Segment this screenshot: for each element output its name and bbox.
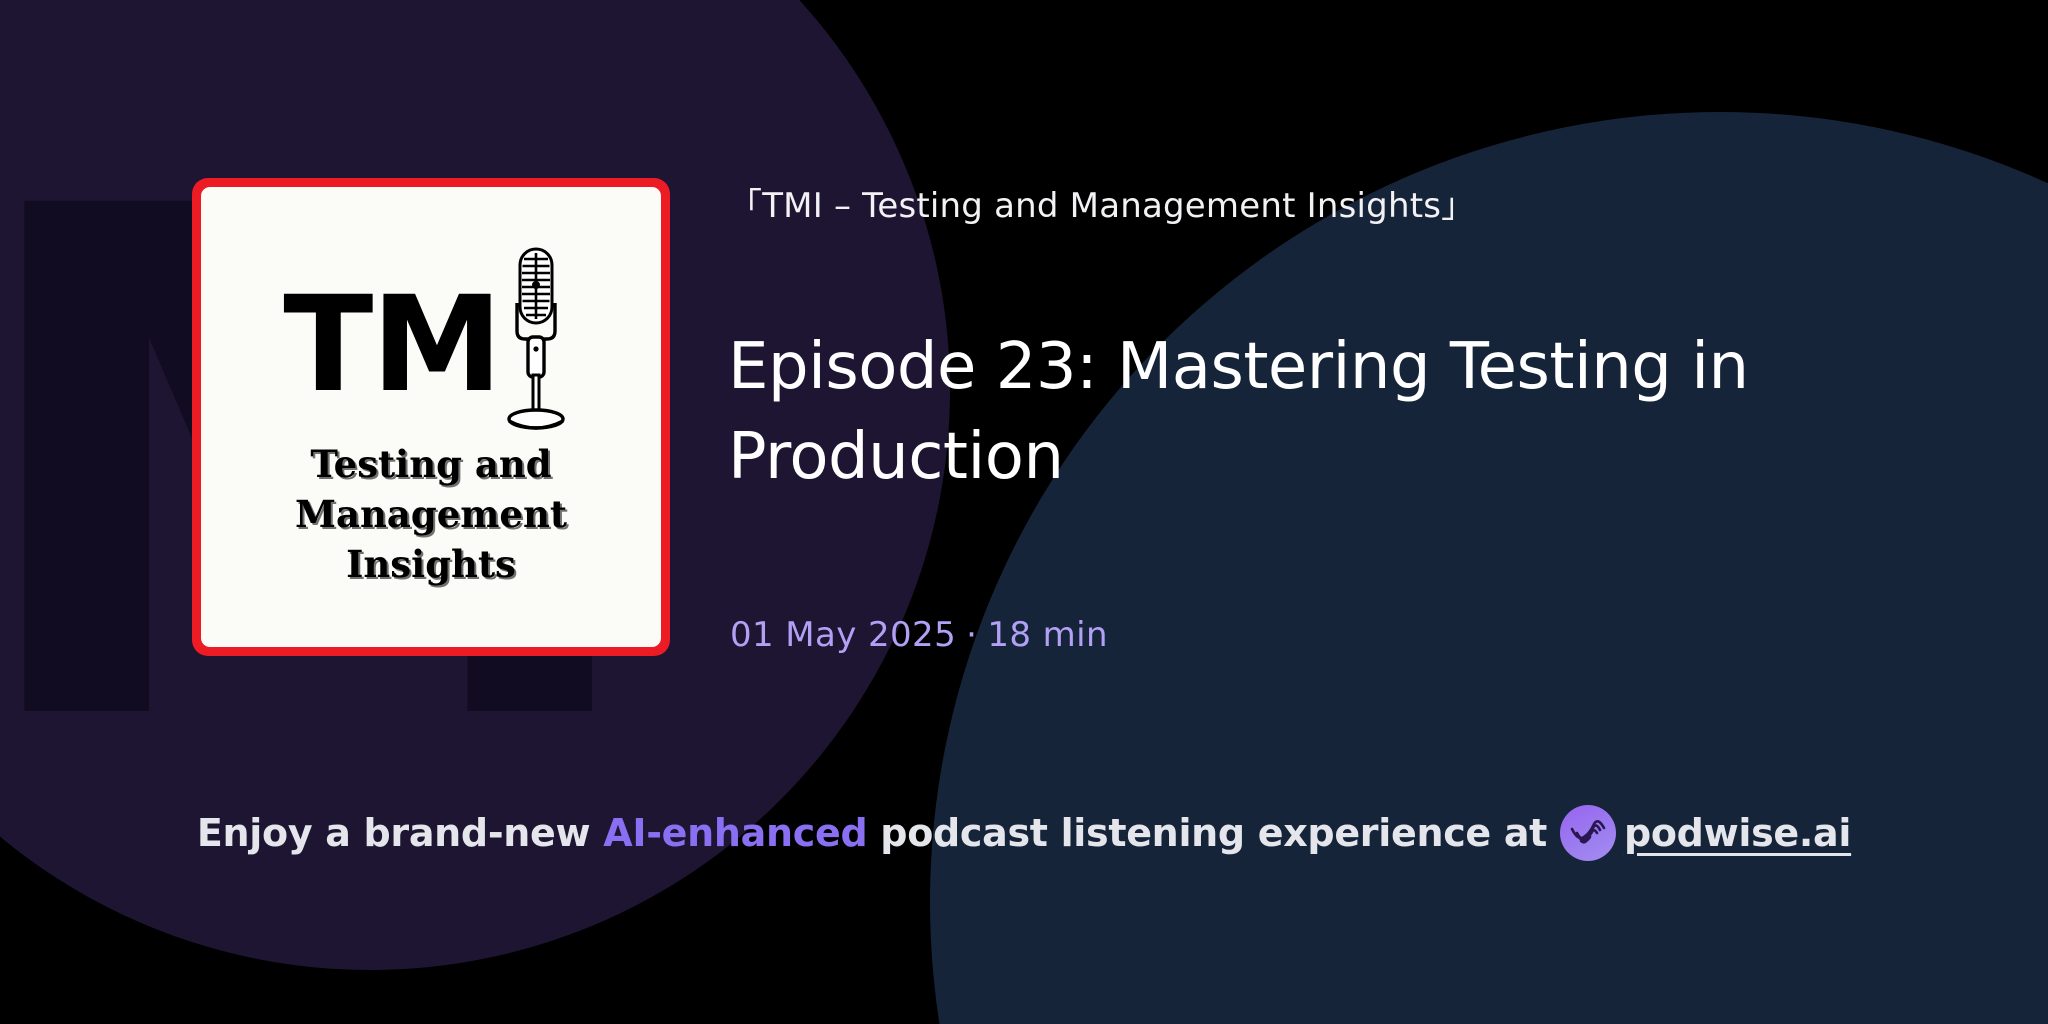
cover-subtitle-line-1: Testing and — [211, 439, 651, 489]
promo-text-before: Enjoy a brand-new — [197, 802, 603, 864]
cover-art-inner: TM — [201, 187, 661, 647]
cover-initials: TM — [201, 279, 661, 411]
promo-text-after: podcast listening experience at — [867, 802, 1560, 864]
card-content: TM — [0, 0, 2048, 1024]
microphone-icon — [503, 245, 569, 435]
episode-title: Episode 23: Mastering Testing in Product… — [728, 322, 1908, 502]
episode-meta: 01 May 2025·18 min — [730, 614, 1108, 656]
cover-subtitle-line-2: Management Insights — [211, 489, 651, 589]
show-name: 「TMI – Testing and Management Insights」 — [728, 185, 1475, 227]
podwise-link[interactable]: podwise.ai — [1560, 802, 1851, 864]
episode-date: 01 May 2025 — [730, 615, 956, 655]
cover-art[interactable]: TM — [192, 178, 670, 656]
podwise-link-label[interactable]: podwise.ai — [1624, 802, 1851, 864]
podwise-wave-icon — [1560, 805, 1616, 861]
promo-highlight: AI-enhanced — [603, 802, 867, 864]
episode-duration: 18 min — [987, 615, 1108, 655]
podcast-episode-share-card: M TM — [0, 0, 2048, 1024]
meta-separator: · — [956, 615, 987, 655]
cover-subtitle: Testing and Management Insights — [211, 439, 651, 589]
promo-banner: Enjoy a brand-new AI-enhanced podcast li… — [0, 802, 2048, 864]
